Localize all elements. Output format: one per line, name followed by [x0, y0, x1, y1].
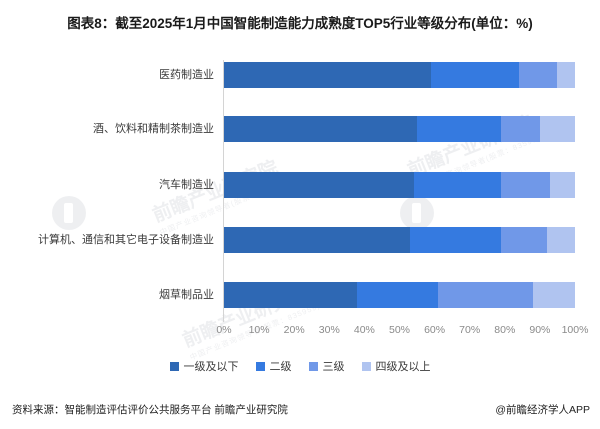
x-axis-tick: 50% [389, 324, 410, 336]
bar-segment [417, 116, 501, 142]
legend-item[interactable]: 三级 [309, 358, 345, 374]
bar-segment [224, 116, 417, 142]
x-axis-tick: 60% [424, 324, 445, 336]
legend-item[interactable]: 二级 [256, 358, 292, 374]
bar-segment [357, 282, 438, 308]
bar-segment [410, 227, 501, 253]
bar-segment [224, 227, 410, 253]
y-axis-label: 汽车制造业 [0, 172, 214, 198]
bar-segment [224, 172, 414, 198]
x-axis-tick: 40% [354, 324, 375, 336]
bar-segment [501, 116, 540, 142]
bar-segment [519, 62, 558, 88]
bar-segment [540, 116, 575, 142]
bar-segment [501, 227, 547, 253]
bar-segment [438, 282, 533, 308]
chart-card: 前瞻产业研究院中国产业咨询领导者(股票：835959) 前瞻产业研究院中国产业咨… [0, 0, 600, 429]
bar-segment [547, 227, 575, 253]
page-title: 图表8：截至2025年1月中国智能制造能力成熟度TOP5行业等级分布(单位：%) [30, 14, 570, 34]
legend: 一级及以下二级三级四级及以上 [0, 358, 600, 374]
x-axis-tick: 80% [494, 324, 515, 336]
legend-swatch-icon [256, 362, 265, 371]
legend-label: 三级 [323, 358, 345, 374]
legend-swatch-icon [170, 362, 179, 371]
y-axis-label: 医药制造业 [0, 62, 214, 88]
table-row [224, 282, 575, 308]
source-note: 资料来源：智能制造评估评价公共服务平台 前瞻产业研究院 [12, 402, 288, 417]
legend-swatch-icon [362, 362, 371, 371]
x-axis-tick: 30% [319, 324, 340, 336]
x-axis-tick: 20% [284, 324, 305, 336]
y-axis-label: 烟草制品业 [0, 282, 214, 308]
bar-segment [533, 282, 575, 308]
legend-label: 一级及以下 [184, 358, 239, 374]
y-axis-label: 酒、饮料和精制茶制造业 [0, 116, 214, 142]
bar-segment [414, 172, 502, 198]
x-axis-tick: 0% [216, 324, 231, 336]
bar-segment [557, 62, 575, 88]
table-row [224, 116, 575, 142]
x-axis-tick: 10% [249, 324, 270, 336]
legend-label: 四级及以上 [376, 358, 431, 374]
bar-segment [501, 172, 550, 198]
bar-segment [550, 172, 575, 198]
footer: 资料来源：智能制造评估评价公共服务平台 前瞻产业研究院 @前瞻经济学人APP [0, 398, 600, 424]
legend-item[interactable]: 一级及以下 [170, 358, 239, 374]
table-row [224, 62, 575, 88]
legend-label: 二级 [270, 358, 292, 374]
legend-item[interactable]: 四级及以上 [362, 358, 431, 374]
x-axis-tick: 90% [529, 324, 550, 336]
x-axis-tick: 100% [562, 324, 589, 336]
table-row [224, 227, 575, 253]
x-axis: 0%10%20%30%40%50%60%70%80%90%100% [224, 324, 575, 340]
table-row [224, 172, 575, 198]
brand-note: @前瞻经济学人APP [495, 402, 590, 417]
legend-swatch-icon [309, 362, 318, 371]
bar-segment [224, 282, 357, 308]
bar-segment [431, 62, 519, 88]
plot-area [224, 62, 575, 320]
y-axis-label: 计算机、通信和其它电子设备制造业 [0, 227, 214, 253]
x-axis-tick: 70% [459, 324, 480, 336]
bar-segment [224, 62, 431, 88]
